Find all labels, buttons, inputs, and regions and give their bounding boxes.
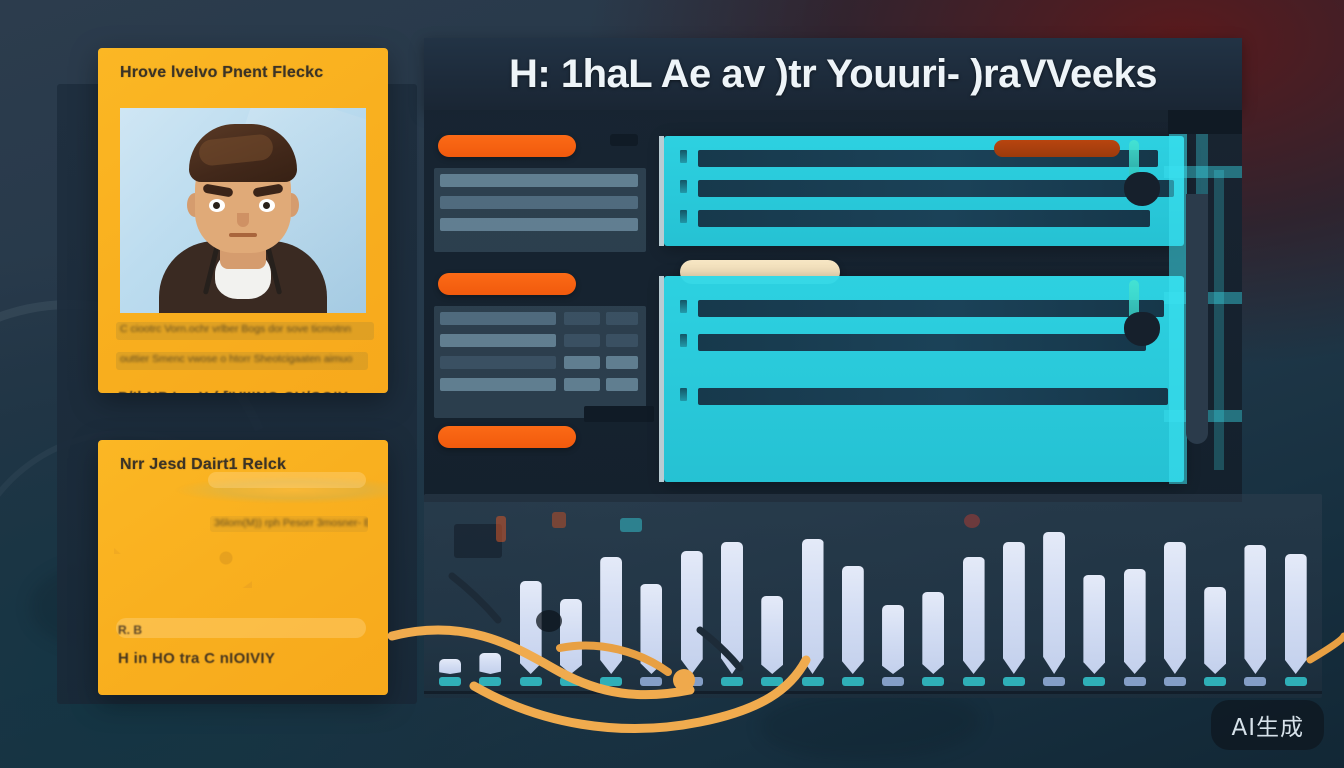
chart-bar[interactable] <box>922 592 944 675</box>
cyan-panel-lower[interactable] <box>664 276 1184 482</box>
profile-card-blurred-line: outtier Smenc vwose o htorr Sheotcigaate… <box>116 352 368 370</box>
main-workspace <box>424 110 1242 502</box>
blurred-text: outtier Smenc vwose o htorr Sheotcigaate… <box>116 352 368 366</box>
decorative-stripe <box>1164 166 1242 178</box>
profile-card-subhead: P/IbNP I eeX ( ['VIIINO CU/COIY <box>118 389 348 393</box>
bar-slot[interactable] <box>591 504 631 686</box>
chart-bar-foot <box>560 677 582 686</box>
placeholder-cell <box>564 312 600 325</box>
chart-bar[interactable] <box>640 584 662 674</box>
chart-bar[interactable] <box>1285 554 1307 674</box>
section-one-action-button[interactable] <box>438 135 576 157</box>
secondary-card-label: R. B <box>118 623 142 637</box>
chart-bar-foot <box>761 677 783 686</box>
bar-slot[interactable] <box>1074 504 1114 686</box>
chart-bar[interactable] <box>600 557 622 674</box>
cyan-knob-upper[interactable] <box>1124 172 1160 206</box>
bar-slot[interactable] <box>430 504 470 686</box>
profile-card[interactable]: Hrove lveIvo Pnent Fleckc C ciootrc Vorn… <box>98 48 388 393</box>
row-marker <box>680 210 687 223</box>
decorative-dark-shape <box>1168 110 1242 134</box>
bar-slot[interactable] <box>1195 504 1235 686</box>
chart-bar-foot <box>1204 677 1226 686</box>
cyan-row <box>698 388 1168 405</box>
chart-bar-foot <box>640 677 662 686</box>
chart-bar-foot <box>1285 677 1307 686</box>
chart-bar-foot <box>1083 677 1105 686</box>
decorative-dark-shape <box>1186 194 1208 444</box>
chart-bar[interactable] <box>761 596 783 674</box>
chart-bar-foot <box>963 677 985 686</box>
bar-slot[interactable] <box>913 504 953 686</box>
bar-slot[interactable] <box>1235 504 1275 686</box>
chart-bar[interactable] <box>842 566 864 674</box>
section-two-action-button[interactable] <box>438 273 576 295</box>
bar-slot[interactable] <box>1034 504 1074 686</box>
placeholder-row <box>440 334 556 347</box>
bar-slot[interactable] <box>792 504 832 686</box>
placeholder-row <box>440 218 638 231</box>
chart-bar-foot <box>922 677 944 686</box>
cyan-row <box>698 180 1174 197</box>
chart-bar-foot <box>1164 677 1186 686</box>
cyan-row <box>698 210 1150 227</box>
chart-bar-foot <box>842 677 864 686</box>
row-marker <box>680 180 687 193</box>
bar-slot[interactable] <box>873 504 913 686</box>
bar-slot[interactable] <box>994 504 1034 686</box>
chart-bar[interactable] <box>963 557 985 674</box>
profile-card-title: Hrove lveIvo Pnent Fleckc <box>120 64 370 82</box>
decorative-stripe <box>1214 170 1224 470</box>
chart-bar[interactable] <box>1083 575 1105 674</box>
placeholder-row <box>440 174 638 187</box>
cyan-knob-lower[interactable] <box>1124 312 1160 346</box>
cyan-row <box>698 334 1146 351</box>
bar-slot[interactable] <box>511 504 551 686</box>
row-marker <box>680 150 687 163</box>
bar-slot[interactable] <box>631 504 671 686</box>
chart-bar-foot <box>882 677 904 686</box>
chart-bar-foot <box>520 677 542 686</box>
avatar <box>120 108 366 313</box>
avatar-pupil-left <box>213 202 220 209</box>
chart-bar[interactable] <box>520 581 542 674</box>
placeholder-cell <box>564 356 600 369</box>
bar-slot[interactable] <box>712 504 752 686</box>
secondary-card[interactable]: Nrr Jesd Dairt1 Relck 36lom(M)) rph Peso… <box>98 440 388 695</box>
bar-slot[interactable] <box>1155 504 1195 686</box>
row-marker <box>680 300 687 313</box>
chart-bar[interactable] <box>560 599 582 674</box>
chart-bar-foot <box>1043 677 1065 686</box>
chart-bar[interactable] <box>1204 587 1226 674</box>
bar-slot[interactable] <box>752 504 792 686</box>
chart-bar-foot <box>600 677 622 686</box>
background-blotch <box>760 690 980 760</box>
placeholder-row <box>440 312 556 325</box>
bar-slot[interactable] <box>470 504 510 686</box>
chart-bar[interactable] <box>721 542 743 674</box>
secondary-card-blurred-line: 36lom(M)) rph Pesorr 3mosner- Eronorkl <box>210 516 368 532</box>
avatar-nose <box>237 213 249 227</box>
chart-bar[interactable] <box>1003 542 1025 674</box>
chart-bar-foot <box>1124 677 1146 686</box>
row-marker <box>680 334 687 347</box>
secondary-action-button[interactable] <box>994 140 1120 157</box>
placeholder-cell <box>606 378 638 391</box>
chart-bar-foot <box>802 677 824 686</box>
chart-bar-foot <box>1244 677 1266 686</box>
chart-bar[interactable] <box>479 653 501 674</box>
placeholder-cell <box>564 378 600 391</box>
decorative-dark-shape <box>610 134 638 146</box>
secondary-card-title: Nrr Jesd Dairt1 Relck <box>120 456 370 474</box>
ghost-bar <box>208 472 366 488</box>
chart-bar-foot <box>439 677 461 686</box>
placeholder-row <box>440 196 638 209</box>
decorative-dark-shape <box>584 406 654 422</box>
secondary-card-subhead: H in HO tra C nIOIVIY <box>118 650 275 667</box>
bar-slot[interactable] <box>953 504 993 686</box>
chart-bar[interactable] <box>882 605 904 674</box>
chart-bar-foot <box>1003 677 1025 686</box>
bar-chart-plot <box>430 504 1316 686</box>
ghost-bar <box>116 618 366 638</box>
placeholder-cell <box>564 334 600 347</box>
chart-bar-foot <box>479 677 501 686</box>
row-marker <box>680 388 687 401</box>
profile-card-blurred-line: C ciootrc Vorn.ochr vrlber Bogs dor sove… <box>116 322 374 340</box>
blurred-text: C ciootrc Vorn.ochr vrlber Bogs dor sove… <box>116 322 374 336</box>
chart-bar[interactable] <box>1244 545 1266 674</box>
bar-slot[interactable] <box>551 504 591 686</box>
placeholder-row <box>440 356 556 369</box>
decorative-stripe <box>1169 124 1187 484</box>
avatar-pupil-right <box>263 202 270 209</box>
chart-bar[interactable] <box>1124 569 1146 674</box>
cyan-row <box>698 300 1164 317</box>
bar-slot[interactable] <box>833 504 873 686</box>
ai-generated-watermark: AI生成 <box>1211 700 1324 750</box>
chart-bar-foot <box>721 677 743 686</box>
chart-bar[interactable] <box>681 551 703 674</box>
chart-bar[interactable] <box>1043 532 1065 675</box>
section-three-action-button[interactable] <box>438 426 576 448</box>
placeholder-cell <box>606 312 638 325</box>
placeholder-cell <box>606 334 638 347</box>
blurred-text: 36lom(M)) rph Pesorr 3mosner- Eronorkl <box>210 516 368 530</box>
chart-bar-foot <box>681 677 703 686</box>
chart-bar[interactable] <box>439 659 461 674</box>
bar-slot[interactable] <box>1115 504 1155 686</box>
bar-chart[interactable] <box>424 494 1322 698</box>
page-header: H: 1haL Ae av )tr Youuri- )raVVeeks <box>424 38 1242 110</box>
bar-chart-baseline <box>424 691 1322 694</box>
chart-bar[interactable] <box>802 539 824 674</box>
placeholder-row <box>440 378 556 391</box>
app-canvas: Hrove lveIvo Pnent Fleckc C ciootrc Vorn… <box>0 0 1344 768</box>
placeholder-cell <box>606 356 638 369</box>
bar-slot[interactable] <box>672 504 712 686</box>
page-title: H: 1haL Ae av )tr Youuri- )raVVeeks <box>509 52 1157 97</box>
avatar-mouth <box>229 233 257 237</box>
chart-bar[interactable] <box>1164 542 1186 674</box>
bar-slot[interactable] <box>1276 504 1316 686</box>
